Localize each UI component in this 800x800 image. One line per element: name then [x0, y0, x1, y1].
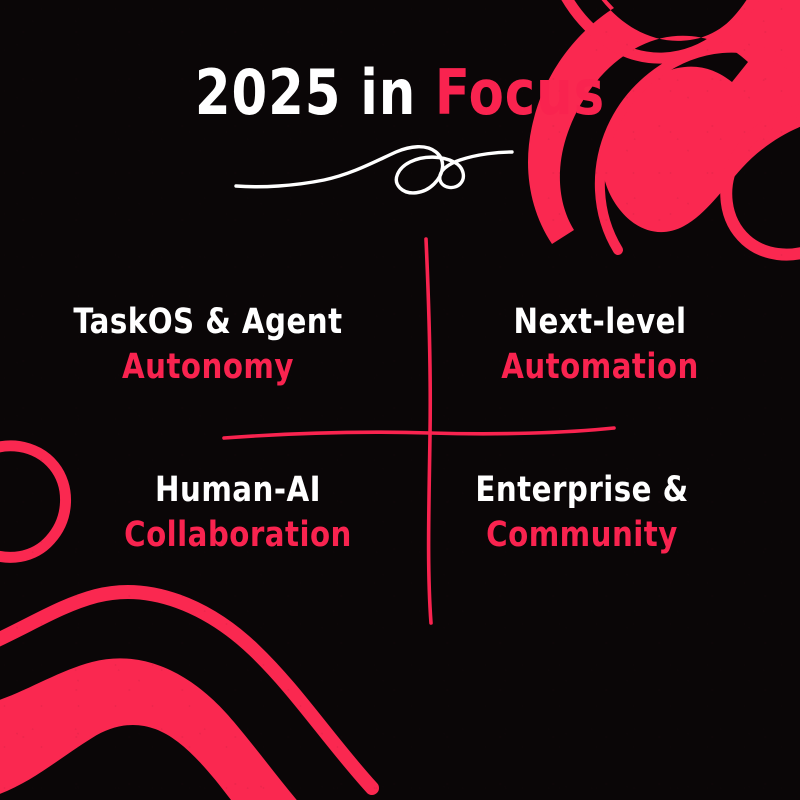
- poster-canvas: 2025 in Focus TaskOS & Agent Autonomy Ne…: [0, 0, 800, 800]
- quadrant-bottom-right: Enterprise & Community: [402, 468, 762, 558]
- quadrant-top-left-line1: TaskOS & Agent: [41, 300, 376, 345]
- page-title-accent-part: Focus: [435, 56, 605, 129]
- page-title-space: [416, 56, 435, 129]
- quadrant-bottom-right-line2: Community: [415, 513, 750, 558]
- quadrant-bottom-left-line1: Human-AI: [71, 468, 406, 513]
- hook-curve-right-edge: [726, 108, 800, 255]
- squiggle-underline-icon: [232, 138, 516, 200]
- wave-blob-bottom-left: [0, 658, 322, 800]
- cross-horizontal-line: [224, 428, 614, 438]
- wave-outline-top-right: [560, 0, 760, 58]
- quadrant-top-right: Next-level Automation: [420, 300, 780, 390]
- quadrant-top-left: TaskOS & Agent Autonomy: [28, 300, 388, 390]
- title-block: 2025 in Focus: [0, 62, 800, 124]
- quadrant-top-right-line1: Next-level: [433, 300, 768, 345]
- cross-vertical-line: [426, 239, 431, 623]
- page-title-white-part: 2025 in: [195, 56, 416, 129]
- quadrant-top-right-line2: Automation: [433, 345, 768, 390]
- hand-drawn-cross-divider-icon: [200, 225, 630, 635]
- quadrant-bottom-left-line2: Collaboration: [71, 513, 406, 558]
- quadrant-top-left-line2: Autonomy: [41, 345, 376, 390]
- quadrant-bottom-left: Human-AI Collaboration: [58, 468, 418, 558]
- page-title: 2025 in Focus: [32, 62, 768, 124]
- loop-curve-left-edge: [0, 446, 66, 558]
- quadrant-bottom-right-line1: Enterprise &: [415, 468, 750, 513]
